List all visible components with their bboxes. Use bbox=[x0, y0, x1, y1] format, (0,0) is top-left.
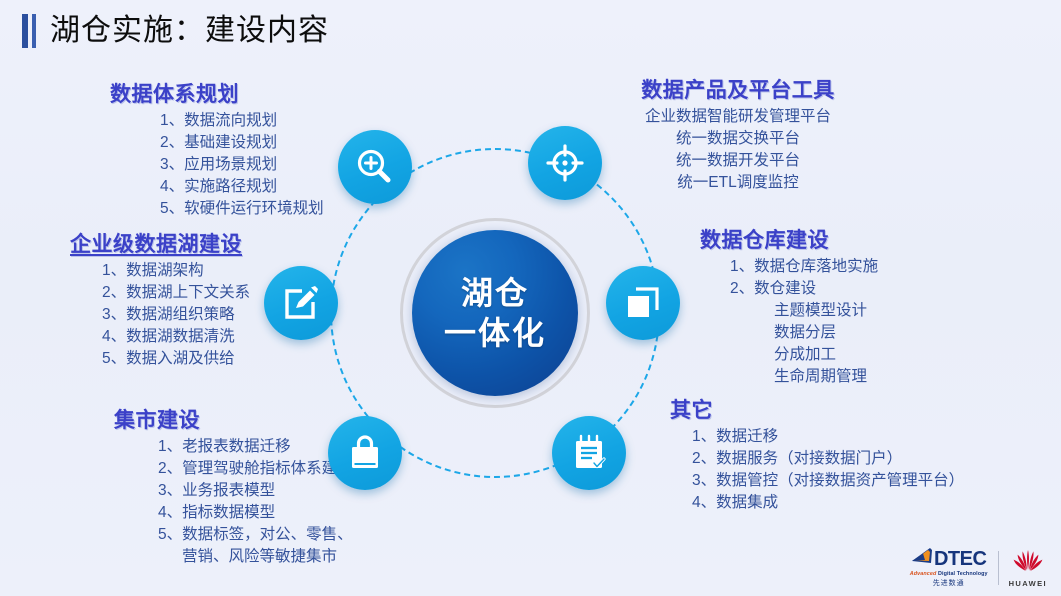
edit-pencil-icon bbox=[281, 283, 321, 323]
logo-divider bbox=[998, 551, 999, 585]
center-hub-line1: 湖仓 bbox=[461, 273, 529, 313]
list-item: 统一ETL调度监控 bbox=[588, 172, 888, 194]
node-data-products-platform[interactable] bbox=[528, 126, 602, 200]
dtec-tagline-advanced: Advanced bbox=[910, 571, 937, 577]
crosshair-target-icon bbox=[544, 142, 586, 184]
center-hub-line2: 一体化 bbox=[444, 313, 546, 353]
list-item: 3、业务报表模型 bbox=[158, 480, 353, 502]
list-item: 营销、风险等敏捷集市 bbox=[158, 546, 353, 568]
accent-bar-thick bbox=[22, 14, 28, 48]
list-item: 4、数据湖数据清洗 bbox=[102, 326, 250, 348]
block-list: 1、数据湖架构 2、数据湖上下文关系 3、数据湖组织策略 4、数据湖数据清洗 5… bbox=[70, 260, 250, 370]
list-item: 1、数据湖架构 bbox=[102, 260, 250, 282]
footer-logos: DTEC Advanced Digital Technology 先进数通 bbox=[910, 548, 1047, 588]
huawei-wordmark: HUAWEI bbox=[1009, 579, 1047, 588]
block-heading: 数据产品及平台工具 bbox=[588, 78, 888, 103]
block-list: 1、老报表数据迁移 2、管理驾驶舱指标体系建设 3、业务报表模型 4、指标数据模… bbox=[114, 436, 353, 568]
list-item: 4、指标数据模型 bbox=[158, 502, 353, 524]
list-item: 主题模型设计 bbox=[730, 300, 878, 322]
dtec-logo-mark-row: DTEC bbox=[911, 548, 986, 570]
list-item: 3、应用场景规划 bbox=[160, 154, 324, 176]
accent-bar-thin bbox=[32, 14, 36, 48]
block-list: 1、数据迁移 2、数据服务（对接数据门户） 3、数据管控（对接数据资产管理平台）… bbox=[670, 426, 964, 514]
huawei-logo: HUAWEI bbox=[1009, 548, 1047, 588]
list-item: 2、数据服务（对接数据门户） bbox=[692, 448, 964, 470]
list-item: 统一数据开发平台 bbox=[588, 150, 888, 172]
list-item: 数据分层 bbox=[730, 322, 878, 344]
shopping-bag-icon bbox=[345, 433, 385, 473]
dtec-logo: DTEC Advanced Digital Technology 先进数通 bbox=[910, 548, 988, 588]
page-title: 湖仓实施：建设内容 bbox=[14, 14, 329, 48]
block-data-warehouse: 数据仓库建设 1、数据仓库落地实施 2、数仓建设 主题模型设计 数据分层 分成加… bbox=[700, 228, 878, 388]
block-list: 1、数据流向规划 2、基础建设规划 3、应用场景规划 4、实施路径规划 5、软硬… bbox=[110, 110, 324, 220]
list-item: 4、数据集成 bbox=[692, 492, 964, 514]
list-item: 3、数据管控（对接数据资产管理平台） bbox=[692, 470, 964, 492]
block-enterprise-data-lake: 企业级数据湖建设 1、数据湖架构 2、数据湖上下文关系 3、数据湖组织策略 4、… bbox=[70, 232, 250, 370]
list-item: 分成加工 bbox=[730, 344, 878, 366]
list-item: 1、老报表数据迁移 bbox=[158, 436, 353, 458]
block-heading: 企业级数据湖建设 bbox=[70, 232, 250, 257]
list-item: 企业数据智能研发管理平台 bbox=[588, 106, 888, 128]
slide-canvas: 湖仓实施：建设内容 湖仓 一体化 bbox=[0, 0, 1061, 596]
block-data-products-platform: 数据产品及平台工具 企业数据智能研发管理平台 统一数据交换平台 统一数据开发平台… bbox=[588, 78, 888, 194]
list-item: 2、基础建设规划 bbox=[160, 132, 324, 154]
title-text: 湖仓实施：建设内容 bbox=[50, 16, 329, 46]
center-hub: 湖仓 一体化 bbox=[412, 230, 578, 396]
block-heading: 数据仓库建设 bbox=[700, 228, 878, 253]
list-item: 统一数据交换平台 bbox=[588, 128, 888, 150]
node-others[interactable] bbox=[552, 416, 626, 490]
block-heading: 其它 bbox=[670, 398, 964, 423]
block-heading: 集市建设 bbox=[114, 408, 353, 433]
title-accent-bars bbox=[22, 14, 36, 48]
list-item: 5、数据入湖及供给 bbox=[102, 348, 250, 370]
list-item: 3、数据湖组织策略 bbox=[102, 304, 250, 326]
dtec-tagline-rest: Digital Technology bbox=[936, 571, 987, 577]
node-data-mart[interactable] bbox=[328, 416, 402, 490]
list-item: 1、数据迁移 bbox=[692, 426, 964, 448]
huawei-flower-icon bbox=[1011, 548, 1045, 578]
node-data-system-planning[interactable] bbox=[338, 130, 412, 204]
node-data-warehouse[interactable] bbox=[606, 266, 680, 340]
copy-layers-icon bbox=[623, 283, 663, 323]
list-item: 5、软硬件运行环境规划 bbox=[160, 198, 324, 220]
block-others: 其它 1、数据迁移 2、数据服务（对接数据门户） 3、数据管控（对接数据资产管理… bbox=[670, 398, 964, 514]
list-item: 1、数据仓库落地实施 bbox=[730, 256, 878, 278]
dtec-arrow-icon bbox=[911, 548, 933, 570]
block-list: 1、数据仓库落地实施 2、数仓建设 主题模型设计 数据分层 分成加工 生命周期管… bbox=[700, 256, 878, 388]
dtec-wordmark: DTEC bbox=[934, 549, 986, 569]
dtec-chinese-name: 先进数通 bbox=[933, 578, 965, 588]
list-item: 1、数据流向规划 bbox=[160, 110, 324, 132]
dtec-tagline: Advanced Digital Technology bbox=[910, 571, 988, 577]
block-data-system-planning: 数据体系规划 1、数据流向规划 2、基础建设规划 3、应用场景规划 4、实施路径… bbox=[110, 82, 324, 220]
list-item: 2、管理驾驶舱指标体系建设 bbox=[158, 458, 353, 480]
block-data-mart: 集市建设 1、老报表数据迁移 2、管理驾驶舱指标体系建设 3、业务报表模型 4、… bbox=[114, 408, 353, 568]
checklist-notepad-icon bbox=[569, 433, 609, 473]
list-item: 生命周期管理 bbox=[730, 366, 878, 388]
zoom-in-icon bbox=[354, 146, 396, 188]
block-list: 企业数据智能研发管理平台 统一数据交换平台 统一数据开发平台 统一ETL调度监控 bbox=[588, 106, 888, 194]
node-enterprise-data-lake[interactable] bbox=[264, 266, 338, 340]
list-item: 2、数据湖上下文关系 bbox=[102, 282, 250, 304]
list-item: 2、数仓建设 bbox=[730, 278, 878, 300]
list-item: 4、实施路径规划 bbox=[160, 176, 324, 198]
block-heading: 数据体系规划 bbox=[110, 82, 324, 107]
list-item: 5、数据标签，对公、零售、 bbox=[158, 524, 353, 546]
